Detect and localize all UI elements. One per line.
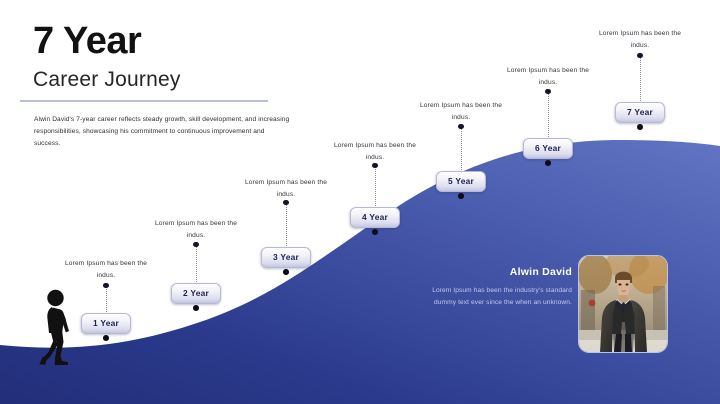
milestone-2-marker-dot [193,242,198,247]
milestone-6-marker-dot [545,89,550,94]
career-journey-slide: 7 Year Career Journey Alwin David's 7-ye… [0,0,720,404]
milestone-3-marker-dot [283,200,288,205]
profile-name: Alwin David [432,266,572,278]
milestone-6-badge[interactable]: 6 Year [523,138,573,159]
milestone-4-badge[interactable]: 4 Year [350,207,400,228]
milestone-7-caption: Lorem Ipsum has been the indus. [594,28,686,51]
milestone-3-wave-dot [283,269,289,275]
milestone-1-marker-dot [103,283,108,288]
milestone-4-wave-dot [372,229,378,235]
milestone-6-caption: Lorem Ipsum has been the indus. [502,65,594,88]
milestone-2-caption: Lorem Ipsum has been the indus. [150,218,242,241]
page-title: 7 Year [33,22,333,62]
milestone-2-wave-dot [193,305,199,311]
milestone-3-badge[interactable]: 3 Year [261,247,311,268]
milestone-7-wave-dot [637,124,643,130]
milestone-4-marker-dot [372,163,377,168]
profile-photo [578,255,668,353]
milestone-6-wave-dot [545,160,551,166]
milestone-5-marker-dot [458,124,463,129]
header-block: 7 Year Career Journey [33,22,333,92]
milestone-3-caption: Lorem Ipsum has been the indus. [240,177,332,200]
milestone-1-caption: Lorem Ipsum has been the indus. [60,258,152,281]
milestone-5-caption: Lorem Ipsum has been the indus. [415,100,507,123]
milestone-2-badge[interactable]: 2 Year [171,283,221,304]
profile-bio: Lorem Ipsum has been the industry's stan… [432,285,572,309]
man-in-suit-portrait-image [579,256,667,352]
milestone-7-marker-dot [637,53,642,58]
milestone-7-badge[interactable]: 7 Year [615,102,665,123]
milestone-4-caption: Lorem Ipsum has been the indus. [329,140,421,163]
milestone-5-wave-dot [458,193,464,199]
intro-paragraph: Alwin David's 7-year career reflects ste… [34,114,292,151]
milestone-1-badge[interactable]: 1 Year [81,313,131,334]
milestone-1-wave-dot [103,335,109,341]
milestone-5-badge[interactable]: 5 Year [436,171,486,192]
page-subtitle: Career Journey [33,67,333,92]
walking-person-silhouette [38,288,78,366]
profile-block: Alwin David Lorem Ipsum has been the ind… [432,266,572,309]
header-divider [20,100,268,102]
